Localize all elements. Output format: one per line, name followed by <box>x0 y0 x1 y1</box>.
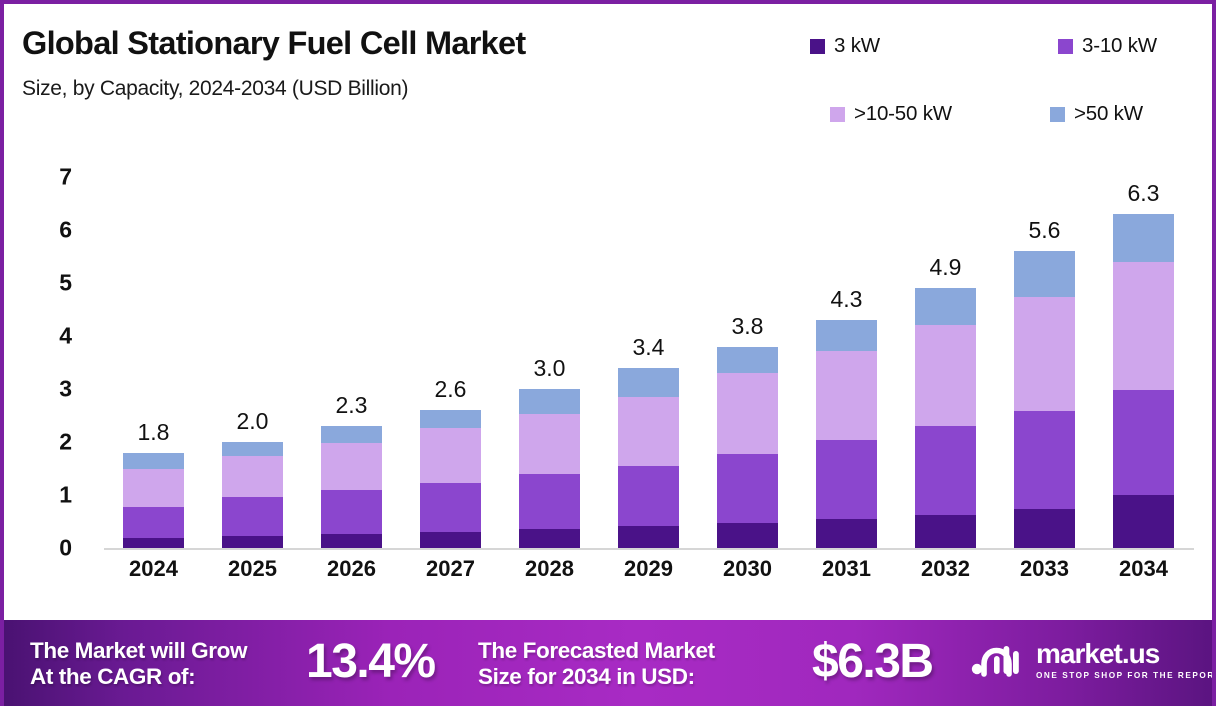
y-axis-tick-label: 4 <box>12 323 72 350</box>
y-axis-tick-label: 6 <box>12 217 72 244</box>
chart-plot-area: 01234567 1.820242.020252.320262.620273.0… <box>4 144 1216 604</box>
legend-item-10-50kw[interactable]: >10-50 kW <box>830 102 952 126</box>
bar-segment[interactable] <box>618 397 679 466</box>
stacked-bar[interactable] <box>420 410 481 548</box>
stacked-bar[interactable] <box>1113 214 1174 548</box>
bar-segment[interactable] <box>618 526 679 548</box>
stacked-bar[interactable] <box>519 389 580 548</box>
bar-segment[interactable] <box>519 474 580 529</box>
bar-series-container: 1.820242.020252.320262.620273.020283.420… <box>104 144 1194 548</box>
bar-segment[interactable] <box>420 483 481 532</box>
y-axis-tick-label: 5 <box>12 270 72 297</box>
bar-segment[interactable] <box>420 428 481 483</box>
bar-segment[interactable] <box>519 414 580 474</box>
bar-group[interactable]: 2.62027 <box>401 144 500 548</box>
y-axis-tick-label: 2 <box>12 429 72 456</box>
bar-segment[interactable] <box>1113 495 1174 548</box>
bar-segment[interactable] <box>717 347 778 374</box>
y-axis-tick-label: 0 <box>12 535 72 562</box>
stacked-bar[interactable] <box>618 368 679 548</box>
legend-item-3kw[interactable]: 3 kW <box>810 34 880 58</box>
bar-segment[interactable] <box>816 440 877 519</box>
y-axis-tick-label: 7 <box>12 164 72 191</box>
chart-legend: 3 kW 3-10 kW >10-50 kW >50 kW <box>810 30 1200 140</box>
x-axis-tick-label: 2029 <box>599 556 698 582</box>
market-us-wordmark: market.us ONE STOP SHOP FOR THE REPORTS <box>1036 640 1216 680</box>
market-us-mark-icon <box>970 642 1026 678</box>
legend-label: >10-50 kW <box>854 102 952 126</box>
cagr-value: 13.4% <box>306 634 435 689</box>
forecast-size-label-line2: Size for 2034 in USD: <box>478 664 715 690</box>
cagr-label-line2: At the CAGR of: <box>30 664 247 690</box>
bar-segment[interactable] <box>1014 251 1075 297</box>
bar-segment[interactable] <box>915 325 976 426</box>
bar-segment[interactable] <box>915 515 976 548</box>
bar-segment[interactable] <box>123 507 184 538</box>
x-axis-tick-label: 2028 <box>500 556 599 582</box>
bar-segment[interactable] <box>519 389 580 414</box>
stacked-bar[interactable] <box>123 453 184 548</box>
bar-segment[interactable] <box>321 443 382 490</box>
bar-group[interactable]: 3.02028 <box>500 144 599 548</box>
bar-segment[interactable] <box>915 288 976 325</box>
bar-segment[interactable] <box>717 523 778 548</box>
bar-value-label: 4.9 <box>896 254 995 281</box>
bar-value-label: 3.8 <box>698 313 797 340</box>
bar-group[interactable]: 3.82030 <box>698 144 797 548</box>
bar-value-label: 2.3 <box>302 392 401 419</box>
x-axis-tick-label: 2034 <box>1094 556 1193 582</box>
cagr-label: The Market will Grow At the CAGR of: <box>30 638 247 690</box>
bar-segment[interactable] <box>1113 214 1174 262</box>
logo-tagline: ONE STOP SHOP FOR THE REPORTS <box>1036 671 1216 680</box>
bar-segment[interactable] <box>321 490 382 534</box>
bar-segment[interactable] <box>618 368 679 397</box>
bar-segment[interactable] <box>816 320 877 351</box>
x-axis-tick-label: 2031 <box>797 556 896 582</box>
bar-segment[interactable] <box>420 410 481 428</box>
bar-segment[interactable] <box>222 497 283 536</box>
stacked-bar[interactable] <box>321 426 382 548</box>
x-axis-baseline <box>104 548 1194 550</box>
cagr-label-line1: The Market will Grow <box>30 638 247 664</box>
bar-group[interactable]: 5.62033 <box>995 144 1094 548</box>
y-axis-tick-label: 1 <box>12 482 72 509</box>
bar-segment[interactable] <box>618 466 679 526</box>
bar-value-label: 1.8 <box>104 419 203 446</box>
bar-segment[interactable] <box>321 426 382 443</box>
bar-segment[interactable] <box>222 456 283 497</box>
bar-segment[interactable] <box>123 453 184 469</box>
x-axis-tick-label: 2032 <box>896 556 995 582</box>
bar-segment[interactable] <box>816 519 877 548</box>
bar-segment[interactable] <box>519 529 580 548</box>
chart-header: Global Stationary Fuel Cell Market Size,… <box>4 4 1216 144</box>
bar-segment[interactable] <box>420 532 481 548</box>
bar-group[interactable]: 1.82024 <box>104 144 203 548</box>
bar-group[interactable]: 3.42029 <box>599 144 698 548</box>
stacked-bar[interactable] <box>915 288 976 548</box>
legend-swatch-icon <box>830 107 845 122</box>
x-axis-tick-label: 2025 <box>203 556 302 582</box>
legend-swatch-icon <box>1058 39 1073 54</box>
bar-segment[interactable] <box>321 534 382 548</box>
x-axis-tick-label: 2027 <box>401 556 500 582</box>
bar-segment[interactable] <box>1113 390 1174 495</box>
bar-segment[interactable] <box>222 442 283 456</box>
legend-swatch-icon <box>1050 107 1065 122</box>
legend-item-over-50kw[interactable]: >50 kW <box>1050 102 1143 126</box>
stacked-bar[interactable] <box>717 347 778 548</box>
bar-value-label: 6.3 <box>1094 180 1193 207</box>
bar-segment[interactable] <box>717 373 778 454</box>
infographic-chart-card: Global Stationary Fuel Cell Market Size,… <box>0 0 1216 706</box>
forecast-size-value: $6.3B <box>812 634 933 689</box>
bar-value-label: 2.6 <box>401 376 500 403</box>
legend-item-3-10kw[interactable]: 3-10 kW <box>1058 34 1157 58</box>
market-us-logo[interactable]: market.us ONE STOP SHOP FOR THE REPORTS <box>970 640 1216 680</box>
bar-value-label: 3.0 <box>500 355 599 382</box>
logo-name: market.us <box>1036 640 1216 668</box>
bar-segment[interactable] <box>816 351 877 440</box>
forecast-size-label: The Forecasted Market Size for 2034 in U… <box>478 638 715 690</box>
forecast-size-label-line1: The Forecasted Market <box>478 638 715 664</box>
bar-group[interactable]: 6.32034 <box>1094 144 1193 548</box>
bar-value-label: 5.6 <box>995 217 1094 244</box>
x-axis-tick-label: 2026 <box>302 556 401 582</box>
bar-segment[interactable] <box>717 454 778 523</box>
bar-value-label: 2.0 <box>203 408 302 435</box>
bar-segment[interactable] <box>1014 411 1075 510</box>
bar-segment[interactable] <box>1113 262 1174 390</box>
bar-group[interactable]: 4.32031 <box>797 144 896 548</box>
x-axis-tick-label: 2033 <box>995 556 1094 582</box>
stacked-bar[interactable] <box>816 320 877 548</box>
bar-group[interactable]: 2.32026 <box>302 144 401 548</box>
page-title: Global Stationary Fuel Cell Market <box>22 25 526 62</box>
x-axis-tick-label: 2030 <box>698 556 797 582</box>
legend-label: >50 kW <box>1074 102 1143 126</box>
y-axis-tick-label: 3 <box>12 376 72 403</box>
bar-segment[interactable] <box>1014 297 1075 410</box>
stacked-bar[interactable] <box>222 442 283 548</box>
legend-swatch-icon <box>810 39 825 54</box>
bar-segment[interactable] <box>915 426 976 515</box>
bar-group[interactable]: 4.92032 <box>896 144 995 548</box>
chart-subtitle: Size, by Capacity, 2024-2034 (USD Billio… <box>22 77 408 101</box>
bar-segment[interactable] <box>222 536 283 548</box>
bar-segment[interactable] <box>123 469 184 507</box>
bar-group[interactable]: 2.02025 <box>203 144 302 548</box>
legend-label: 3-10 kW <box>1082 34 1157 58</box>
bar-value-label: 3.4 <box>599 334 698 361</box>
stacked-bar[interactable] <box>1014 251 1075 548</box>
legend-label: 3 kW <box>834 34 880 58</box>
x-axis-tick-label: 2024 <box>104 556 203 582</box>
bar-value-label: 4.3 <box>797 286 896 313</box>
bar-segment[interactable] <box>123 538 184 548</box>
bar-segment[interactable] <box>1014 509 1075 548</box>
footer-banner: The Market will Grow At the CAGR of: 13.… <box>4 620 1216 706</box>
